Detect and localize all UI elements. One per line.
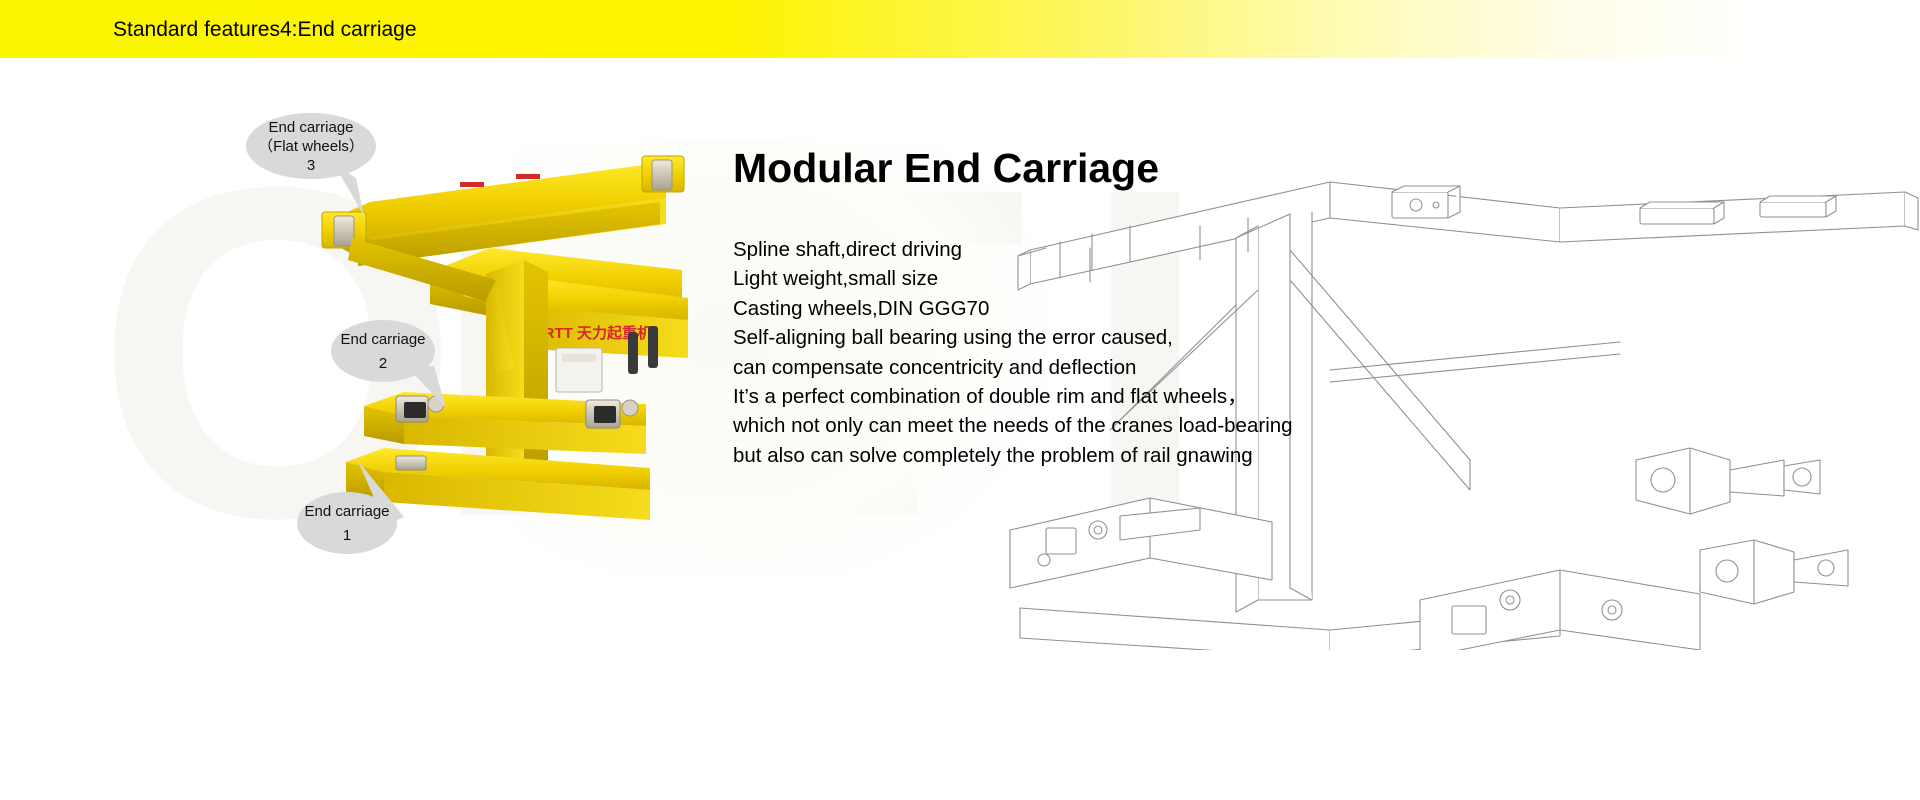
feature-item: can compensate concentricity and deflect…: [733, 353, 1433, 382]
callout-end-carriage-2[interactable]: End carriage 2: [331, 320, 435, 382]
callout-end-carriage-1[interactable]: End carriage 1: [297, 492, 397, 554]
callout-2-line1: End carriage: [340, 330, 425, 349]
content-text-column: Modular End Carriage Spline shaft,direct…: [733, 143, 1433, 470]
callout-1-line1: End carriage: [304, 502, 389, 521]
feature-item: but also can solve completely the proble…: [733, 441, 1433, 470]
callout-1-number: 1: [343, 526, 351, 545]
feature-item: which not only can meet the needs of the…: [733, 411, 1433, 440]
callout-2-number: 2: [379, 354, 387, 373]
top-banner: Standard features4:End carriage: [0, 0, 1920, 58]
callout-3-line1: End carriage: [268, 118, 353, 137]
feature-item: Spline shaft,direct driving: [733, 235, 1433, 264]
callout-3-line2: （Flat wheels）: [258, 137, 364, 156]
feature-item: It’s a perfect combination of double rim…: [733, 382, 1433, 411]
feature-item: Self-aligning ball bearing using the err…: [733, 323, 1433, 352]
feature-item: Casting wheels,DIN GGG70: [733, 294, 1433, 323]
feature-list: Spline shaft,direct driving Light weight…: [733, 235, 1433, 470]
banner-title: Standard features4:End carriage: [113, 18, 417, 42]
page-title: Modular End Carriage: [733, 143, 1433, 193]
feature-item: Light weight,small size: [733, 264, 1433, 293]
callout-3-number: 3: [307, 156, 315, 175]
callout-end-carriage-3[interactable]: End carriage （Flat wheels） 3: [246, 113, 376, 179]
